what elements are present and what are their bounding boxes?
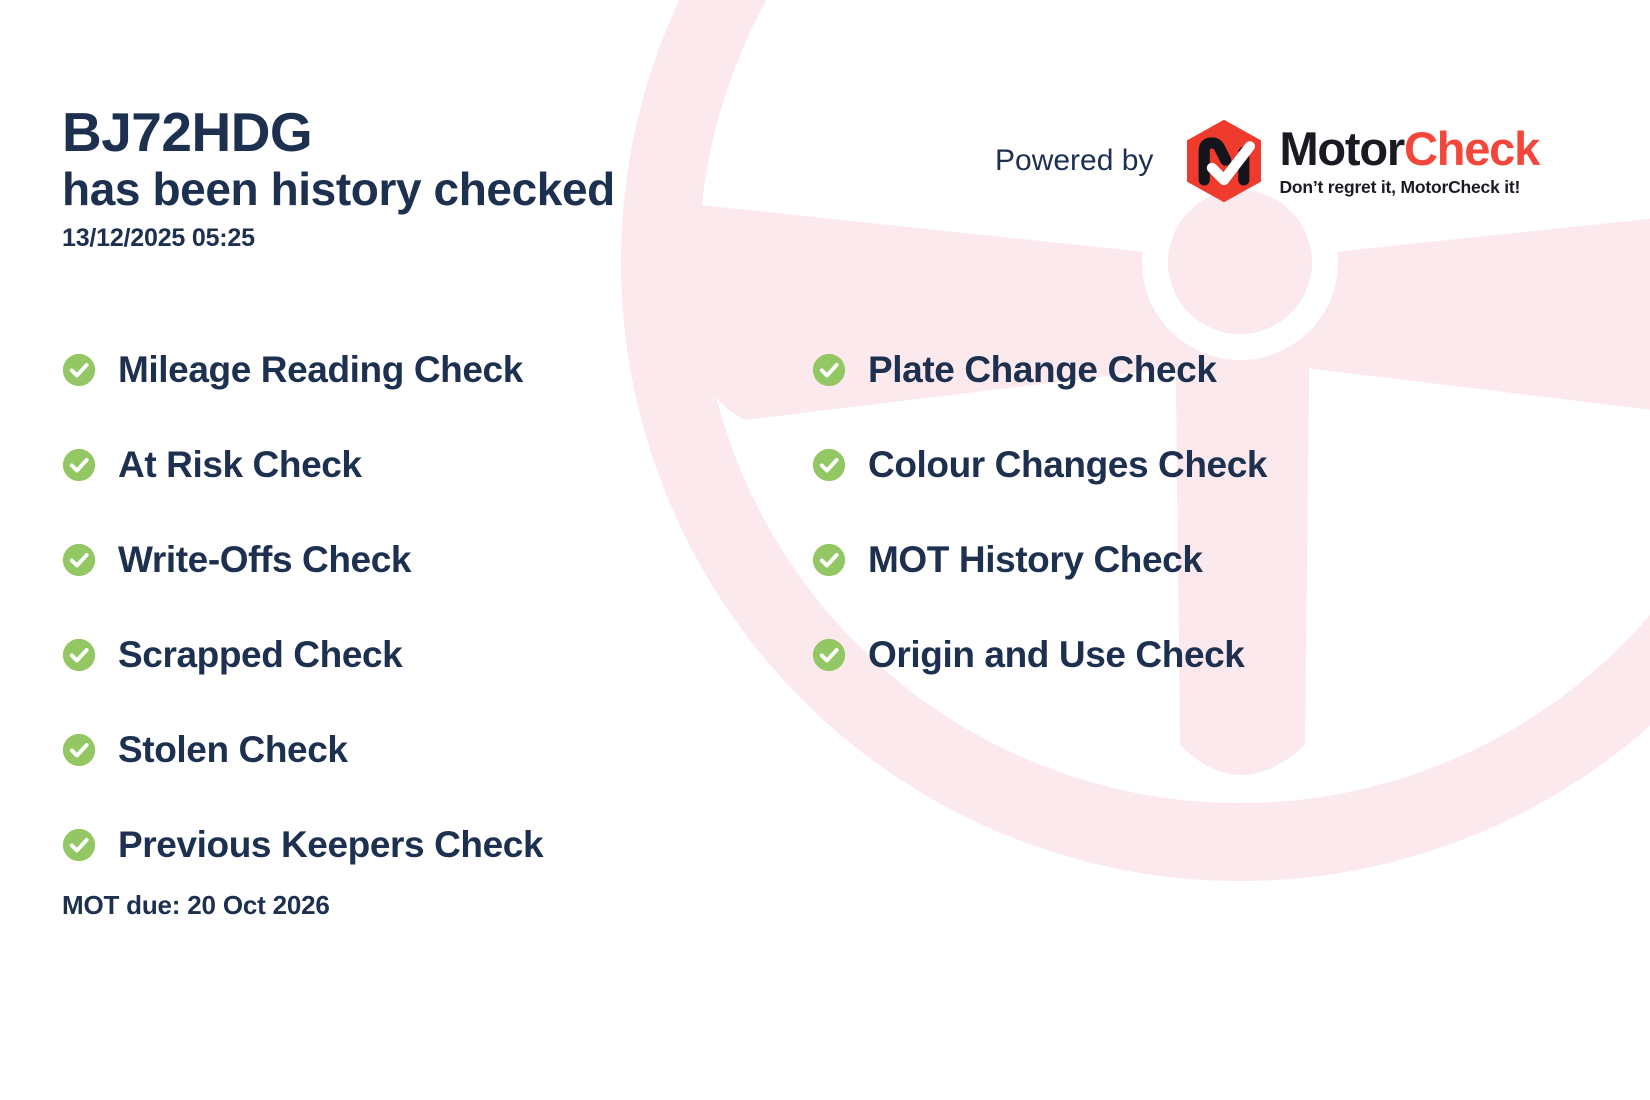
check-circle-icon bbox=[62, 543, 96, 577]
powered-by-label: Powered by bbox=[995, 144, 1153, 178]
check-item: At Risk Check bbox=[62, 417, 543, 512]
check-item: Stolen Check bbox=[62, 702, 543, 797]
brand-tagline: Don’t regret it, MotorCheck it! bbox=[1279, 177, 1539, 198]
check-circle-icon bbox=[62, 448, 96, 482]
page-title-block: BJ72HDG has been history checked 13/12/2… bbox=[62, 103, 615, 253]
check-item: Plate Change Check bbox=[812, 322, 1267, 417]
vehicle-history-check-card: BJ72HDG has been history checked 13/12/2… bbox=[0, 0, 1650, 1100]
check-circle-icon bbox=[812, 353, 846, 387]
check-circle-icon bbox=[62, 828, 96, 862]
check-item-label: Write-Offs Check bbox=[118, 541, 411, 578]
motorcheck-logo[interactable]: MotorCheck Don’t regret it, MotorCheck i… bbox=[1181, 118, 1539, 204]
check-item-label: Origin and Use Check bbox=[868, 636, 1245, 673]
check-item-label: Plate Change Check bbox=[868, 351, 1217, 388]
check-item-label: Previous Keepers Check bbox=[118, 826, 543, 863]
check-circle-icon bbox=[812, 448, 846, 482]
check-item-label: Mileage Reading Check bbox=[118, 351, 523, 388]
powered-by-block: Powered by MotorCheck Don’t regret it, M… bbox=[995, 118, 1539, 204]
check-item: Previous Keepers Check bbox=[62, 797, 543, 892]
wordmark-check: Check bbox=[1404, 122, 1539, 175]
registration-plate: BJ72HDG bbox=[62, 103, 615, 162]
check-circle-icon bbox=[62, 733, 96, 767]
check-circle-icon bbox=[62, 353, 96, 387]
check-timestamp: 13/12/2025 05:25 bbox=[62, 224, 615, 253]
wordmark-line: MotorCheck bbox=[1279, 125, 1539, 172]
check-item: Write-Offs Check bbox=[62, 512, 543, 607]
check-circle-icon bbox=[62, 638, 96, 672]
check-item-label: Scrapped Check bbox=[118, 636, 402, 673]
check-item: Origin and Use Check bbox=[812, 607, 1267, 702]
page-subtitle: has been history checked bbox=[62, 164, 615, 216]
check-item: Scrapped Check bbox=[62, 607, 543, 702]
mot-due-text: MOT due: 20 Oct 2026 bbox=[62, 890, 330, 921]
checks-left-column: Mileage Reading Check At Risk Check Writ… bbox=[62, 322, 543, 892]
check-item: Colour Changes Check bbox=[812, 417, 1267, 512]
check-item-label: Stolen Check bbox=[118, 731, 348, 768]
check-circle-icon bbox=[812, 638, 846, 672]
motorcheck-hexagon-logo-icon bbox=[1181, 118, 1267, 204]
check-item: Mileage Reading Check bbox=[62, 322, 543, 417]
check-item-label: Colour Changes Check bbox=[868, 446, 1267, 483]
check-item-label: At Risk Check bbox=[118, 446, 362, 483]
checks-right-column: Plate Change Check Colour Changes Check … bbox=[812, 322, 1267, 702]
motorcheck-wordmark: MotorCheck Don’t regret it, MotorCheck i… bbox=[1279, 125, 1539, 198]
wordmark-motor: Motor bbox=[1279, 122, 1404, 175]
check-item-label: MOT History Check bbox=[868, 541, 1203, 578]
check-circle-icon bbox=[812, 543, 846, 577]
check-item: MOT History Check bbox=[812, 512, 1267, 607]
